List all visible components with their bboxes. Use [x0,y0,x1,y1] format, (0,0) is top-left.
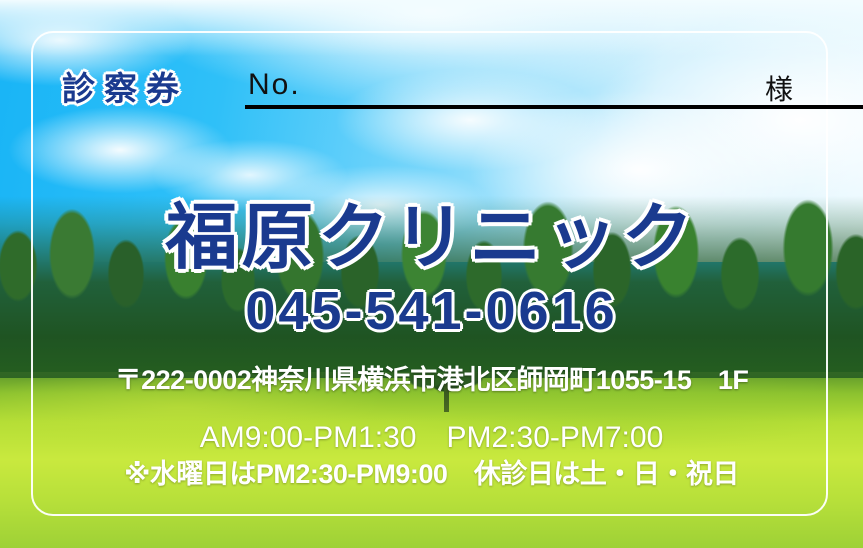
patient-number-label: No. [248,68,301,102]
clinic-patient-card: 診察券 No. 様 福原クリニック 045-541-0616 〒222-0002… [0,0,863,548]
clinic-name: 福原クリニック [0,178,863,283]
patient-number-write-line [245,105,863,109]
card-header-row: 診察券 No. 様 [0,62,863,118]
card-type-label: 診察券 [62,62,188,110]
consultation-hours-line: AM9:00-PM1:30 PM2:30-PM7:00 [0,412,863,456]
clinic-address: 〒222-0002神奈川県横浜市港北区師岡町1055-15 1F [0,358,863,397]
honorific-label: 様 [765,68,793,108]
clinic-phone-number: 045-541-0616 [0,280,863,342]
consultation-hours-note: ※水曜日はPM2:30-PM9:00 休診日は土・日・祝日 [0,452,863,491]
